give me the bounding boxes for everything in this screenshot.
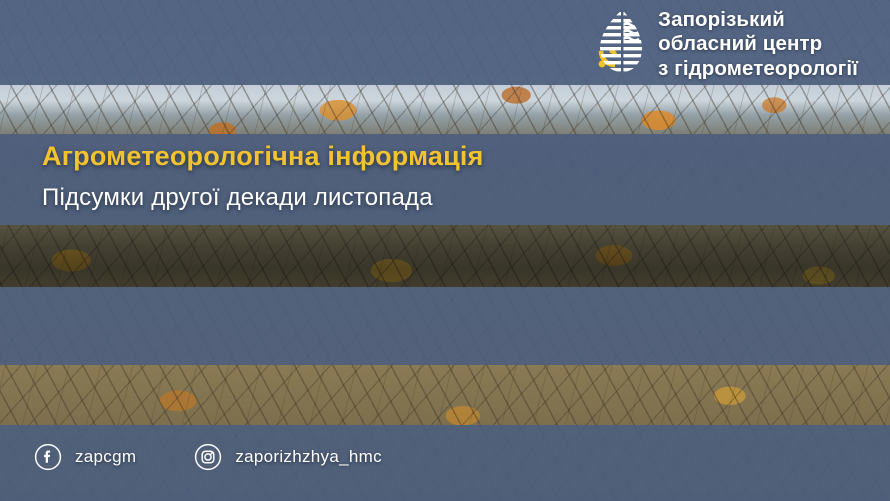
social-bar: zapcgm zaporizhzhya_hmc xyxy=(34,443,382,471)
brand-name: Запорізький обласний центр з гідрометеор… xyxy=(658,8,858,81)
headline-block: Агрометеорологічна інформація Підсумки д… xyxy=(42,142,484,211)
page-title: Агрометеорологічна інформація xyxy=(42,142,484,172)
facebook-icon[interactable] xyxy=(34,443,62,471)
instagram-handle[interactable]: zaporizhzhya_hmc xyxy=(235,447,382,467)
facebook-handle[interactable]: zapcgm xyxy=(75,447,136,467)
leaf-waterdrop-sun-logo-icon xyxy=(588,8,644,74)
page-subtitle: Підсумки другої декади листопада xyxy=(42,185,484,211)
brand-line-1: Запорізький xyxy=(658,8,858,32)
slide-canvas: Запорізький обласний центр з гідрометеор… xyxy=(0,0,890,501)
river-reflection-strip xyxy=(0,225,890,287)
overlay-band-third xyxy=(0,287,890,365)
brand-line-3: з гідрометеорології xyxy=(658,57,858,81)
social-item-instagram[interactable]: zaporizhzhya_hmc xyxy=(194,443,382,471)
social-item-facebook[interactable]: zapcgm xyxy=(34,443,136,471)
brand-lockup: Запорізький обласний центр з гідрометеор… xyxy=(588,8,858,81)
instagram-icon[interactable] xyxy=(194,443,222,471)
brand-line-2: обласний центр xyxy=(658,32,858,56)
